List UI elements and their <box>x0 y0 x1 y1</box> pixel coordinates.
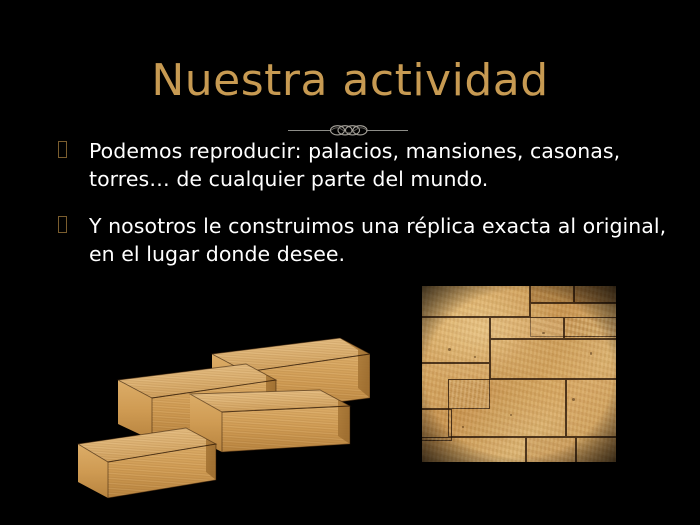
box-bullet-icon <box>58 216 67 233</box>
page-title: Nuestra actividad <box>0 58 700 104</box>
list-item: Y nosotros le construimos una réplica ex… <box>56 213 668 268</box>
list-item-text: Y nosotros le construimos una réplica ex… <box>89 213 668 268</box>
list-item: Podemos reproducir: palacios, mansiones,… <box>56 138 668 193</box>
stone-block-wall-photo <box>422 286 616 462</box>
slide-canvas: Nuestra actividad Podemos reproducir: pa… <box>0 0 700 525</box>
box-bullet-icon <box>58 141 67 158</box>
wall-texture <box>422 286 616 462</box>
list-item-text: Podemos reproducir: palacios, mansiones,… <box>89 138 668 193</box>
stacked-stone-blocks-photo <box>70 328 370 500</box>
bullet-list: Podemos reproducir: palacios, mansiones,… <box>56 138 668 268</box>
ornamental-chain-divider-icon <box>288 121 408 137</box>
